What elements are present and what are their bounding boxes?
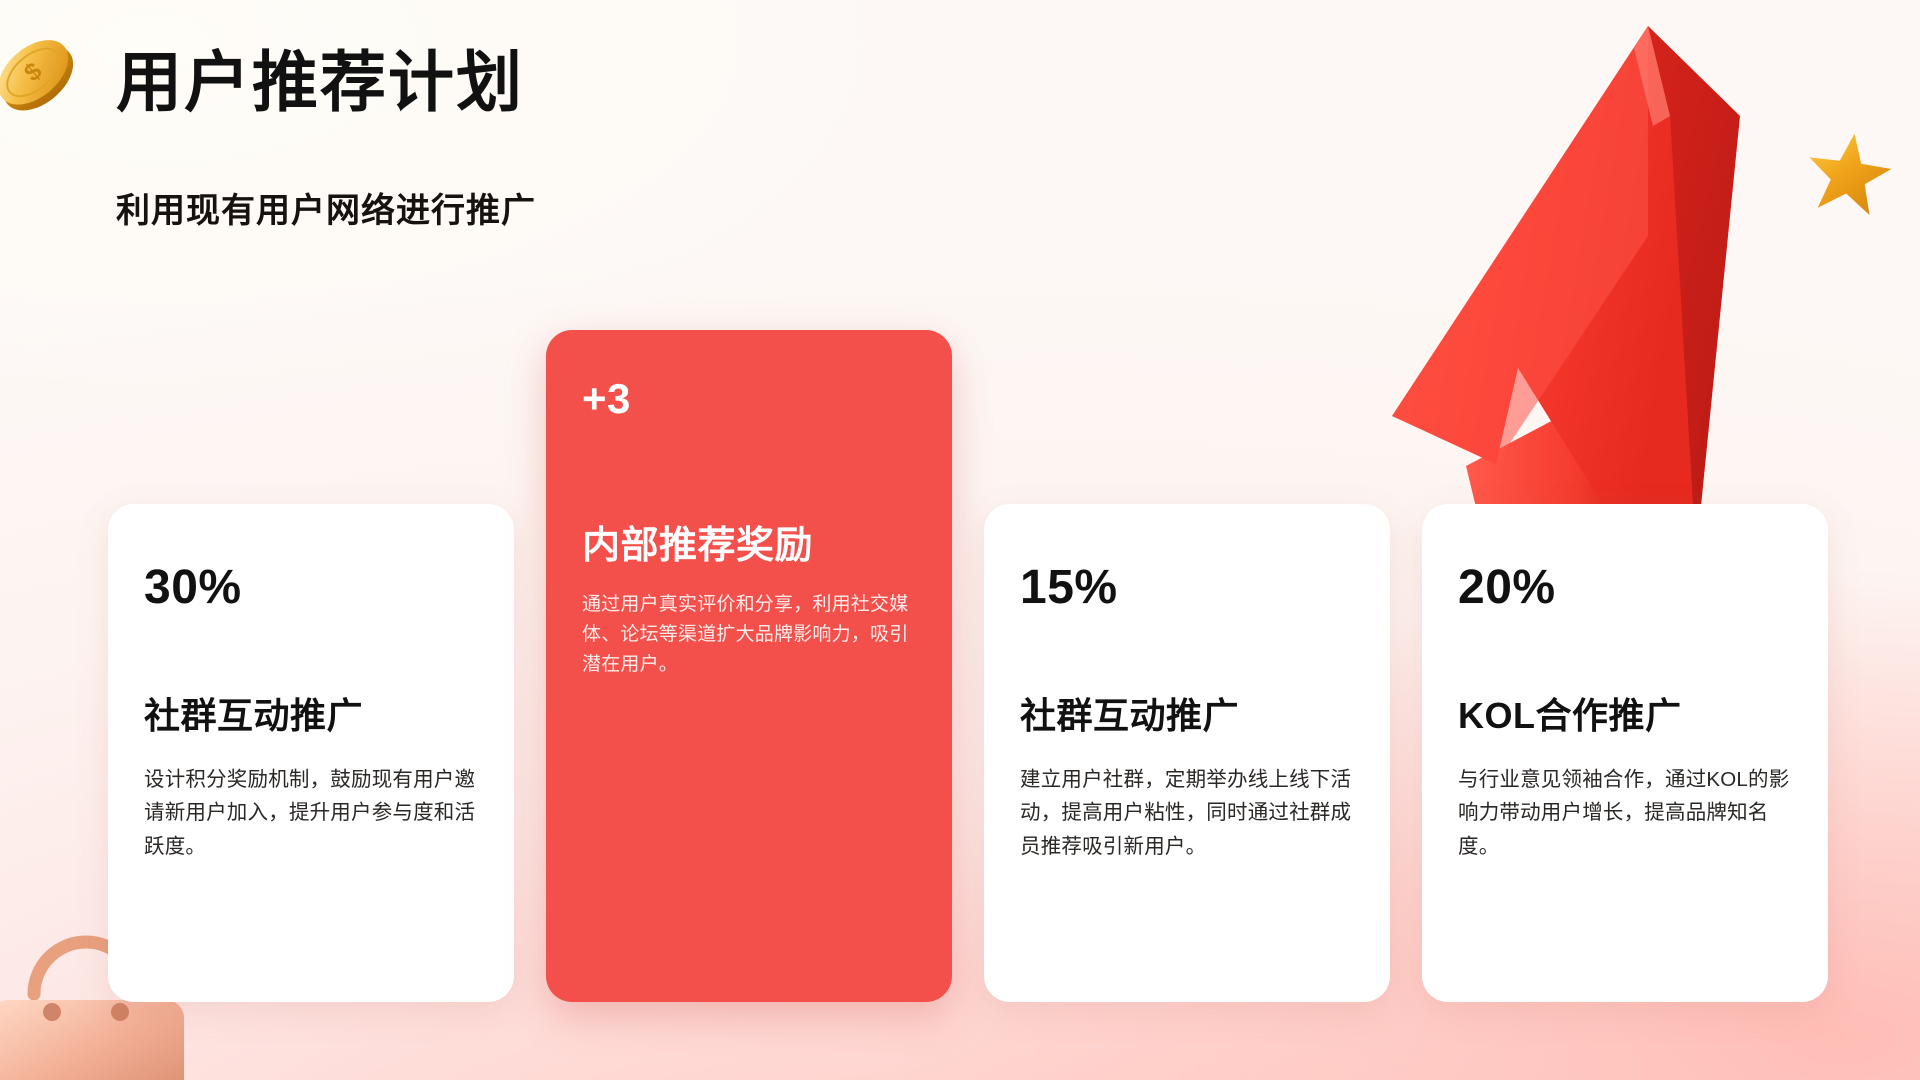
card-community-promotion-30[interactable]: 30% 社群互动推广 设计积分奖励机制，鼓励现有用户邀请新用户加入，提升用户参与… xyxy=(108,504,514,1002)
card-stat: 30% xyxy=(144,564,478,612)
card-stat: 20% xyxy=(1458,564,1792,612)
card-internal-referral-reward[interactable]: +3 内部推荐奖励 通过用户真实评价和分享，利用社交媒体、论坛等渠道扩大品牌影响… xyxy=(546,330,952,1002)
card-title: 社群互动推广 xyxy=(144,694,478,737)
slide-header: 用户推荐计划 利用现有用户网络进行推广 xyxy=(116,48,536,232)
card-description: 设计积分奖励机制，鼓励现有用户邀请新用户加入，提升用户参与度和活跃度。 xyxy=(144,763,478,863)
card-title: KOL合作推广 xyxy=(1458,694,1792,737)
card-description: 通过用户真实评价和分享，利用社交媒体、论坛等渠道扩大品牌影响力，吸引潜在用户。 xyxy=(582,590,916,681)
card-description: 与行业意见领袖合作，通过KOL的影响力带动用户增长，提高品牌知名度。 xyxy=(1458,763,1792,863)
card-title: 内部推荐奖励 xyxy=(582,524,916,570)
card-title: 社群互动推广 xyxy=(1020,694,1354,737)
card-community-promotion-15[interactable]: 15% 社群互动推广 建立用户社群，定期举办线上线下活动，提高用户粘性，同时通过… xyxy=(984,504,1390,1002)
card-stat-badge: +3 xyxy=(582,378,916,420)
card-description: 建立用户社群，定期举办线上线下活动，提高用户粘性，同时通过社群成员推荐吸引新用户… xyxy=(1020,763,1354,863)
page-subtitle: 利用现有用户网络进行推广 xyxy=(116,183,536,232)
card-stat: 15% xyxy=(1020,564,1354,612)
card-kol-partnership[interactable]: 20% KOL合作推广 与行业意见领袖合作，通过KOL的影响力带动用户增长，提高… xyxy=(1422,504,1828,1002)
page-title: 用户推荐计划 xyxy=(116,48,536,117)
slide-canvas: $ 用户推荐计划 利用现有用户网络进行推广 30% 社群互动推广 设计积分奖励机… xyxy=(0,0,1920,1080)
